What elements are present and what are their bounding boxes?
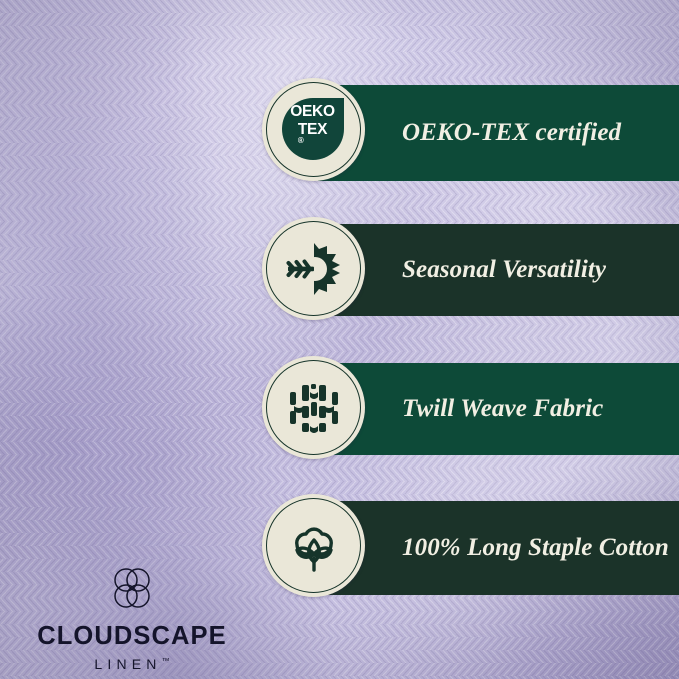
feature-row-seasonal-versatility: Seasonal Versatility	[0, 224, 679, 316]
feature-badge	[262, 356, 365, 459]
oeko-line-1: OEKO	[290, 104, 334, 120]
feature-bar: OEKO-TEX certified	[318, 85, 679, 181]
feature-row-twill-weave: Twill Weave Fabric	[0, 363, 679, 455]
feature-row-oeko-tex: OEKO-TEX certified OEKO TEX®	[0, 85, 679, 181]
feature-badge	[262, 494, 365, 597]
product-feature-graphic: OEKO-TEX certified OEKO TEX® Seasonal Ve…	[0, 0, 679, 679]
feature-badge	[262, 217, 365, 320]
brand-subtitle: LINEN™	[94, 657, 169, 671]
feature-bar: Twill Weave Fabric	[318, 363, 679, 455]
feature-bar: Seasonal Versatility	[318, 224, 679, 316]
brand-logo: CLOUDSCAPE LINEN™	[27, 561, 237, 674]
feature-bar: 100% Long Staple Cotton	[318, 501, 679, 595]
snowflake-sun-icon	[282, 237, 346, 301]
oeko-tex-logo-icon: OEKO TEX®	[282, 98, 346, 162]
woven-twill-icon	[282, 376, 346, 440]
brand-name: CLOUDSCAPE	[27, 624, 237, 650]
trademark-symbol: ™	[162, 656, 170, 665]
overlapping-circles-icon	[27, 561, 237, 615]
oeko-line-2: TEX®	[298, 122, 327, 153]
feature-label: 100% Long Staple Cotton	[318, 534, 669, 562]
cotton-boll-icon	[282, 514, 346, 578]
feature-badge: OEKO TEX®	[262, 78, 365, 181]
